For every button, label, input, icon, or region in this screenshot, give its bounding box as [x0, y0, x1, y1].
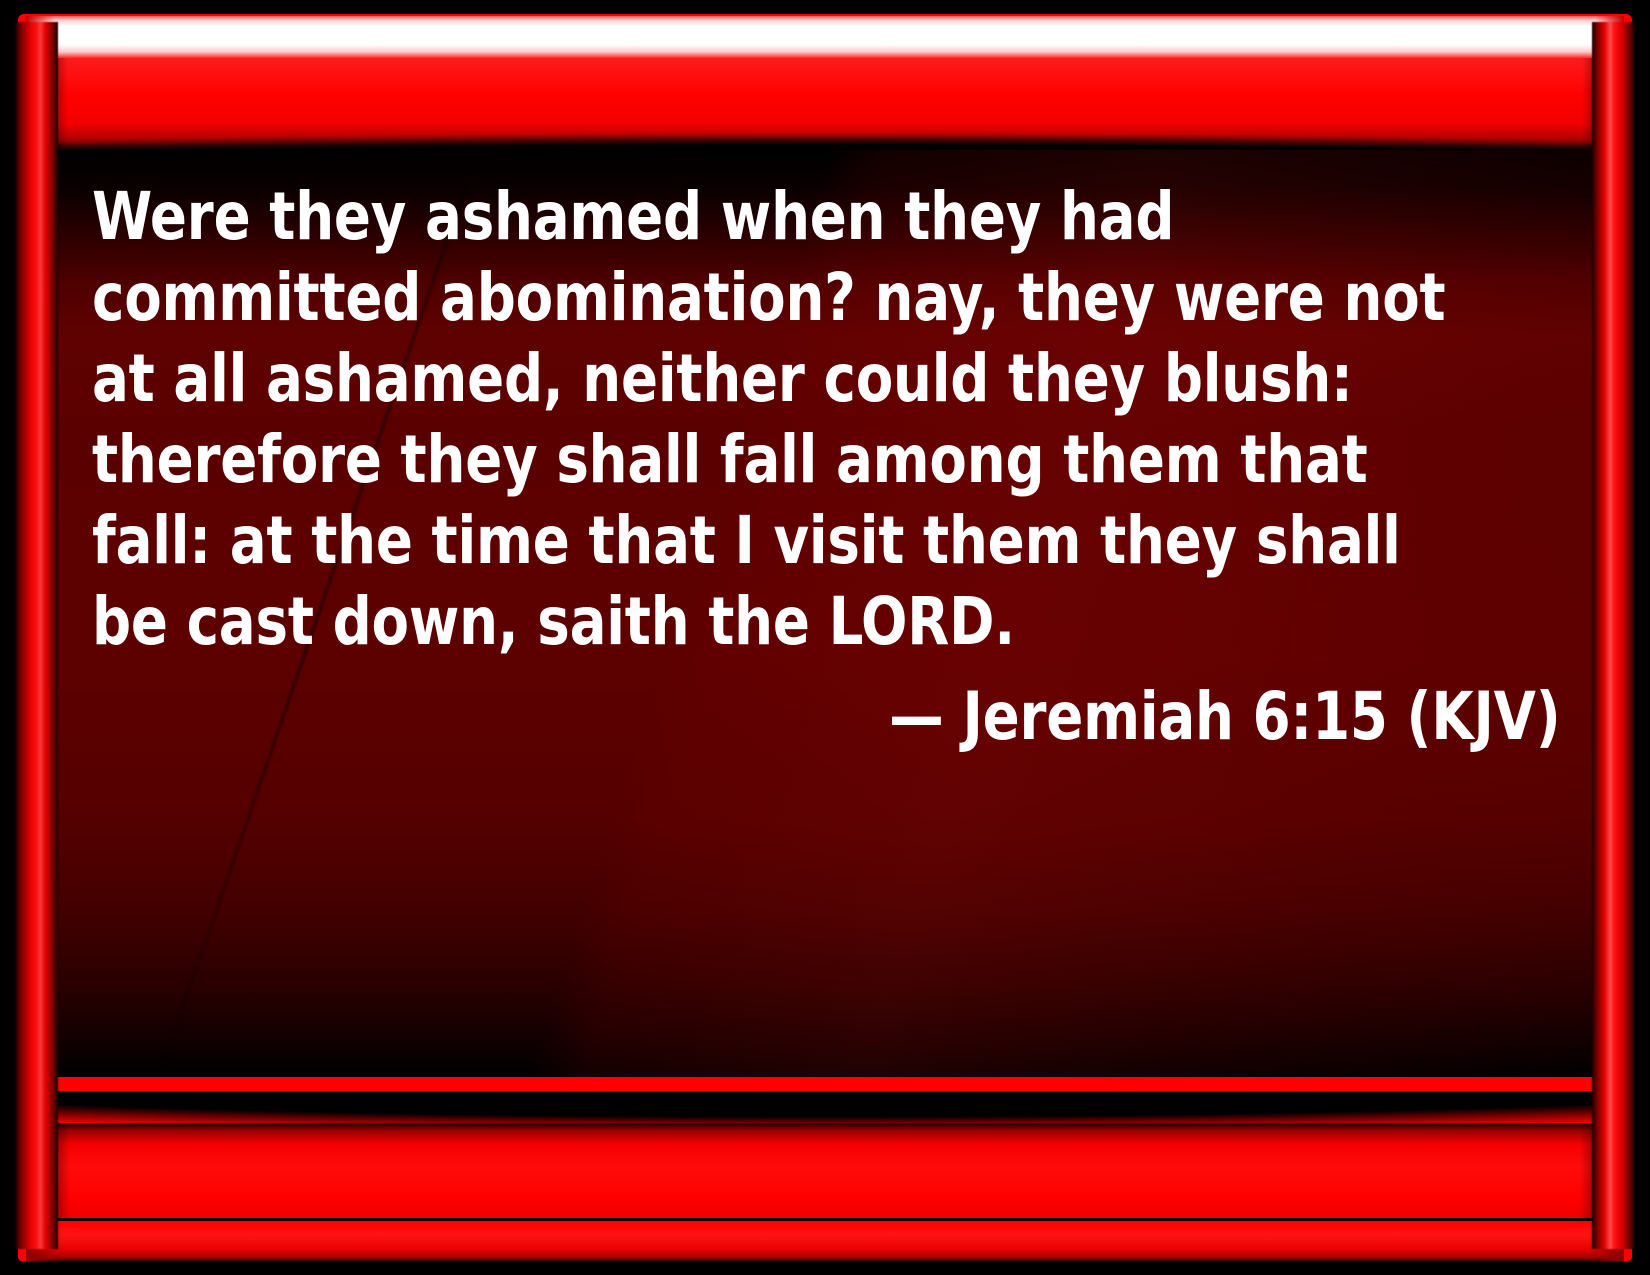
verse-text: Were they ashamed when they had committe… [92, 176, 1448, 662]
text-block: Were they ashamed when they had committe… [92, 176, 1566, 756]
bottom-red-band [34, 1123, 1616, 1219]
right-red-rail [1592, 22, 1636, 1249]
bottom-red-lip [26, 1221, 1624, 1261]
verse-attribution: — Jeremiah 6:15 (KJV) [210, 678, 1566, 756]
left-red-rail [14, 22, 58, 1249]
scripture-slide: Were they ashamed when they had committe… [0, 0, 1650, 1275]
plate-light-strip [50, 270, 1600, 430]
plate-diagonal-sheen [50, 150, 1600, 1077]
top-gloss-highlight [26, 16, 1624, 62]
plate-diagonal-seam [123, 150, 518, 1077]
content-plate: Were they ashamed when they had committe… [50, 150, 1600, 1077]
